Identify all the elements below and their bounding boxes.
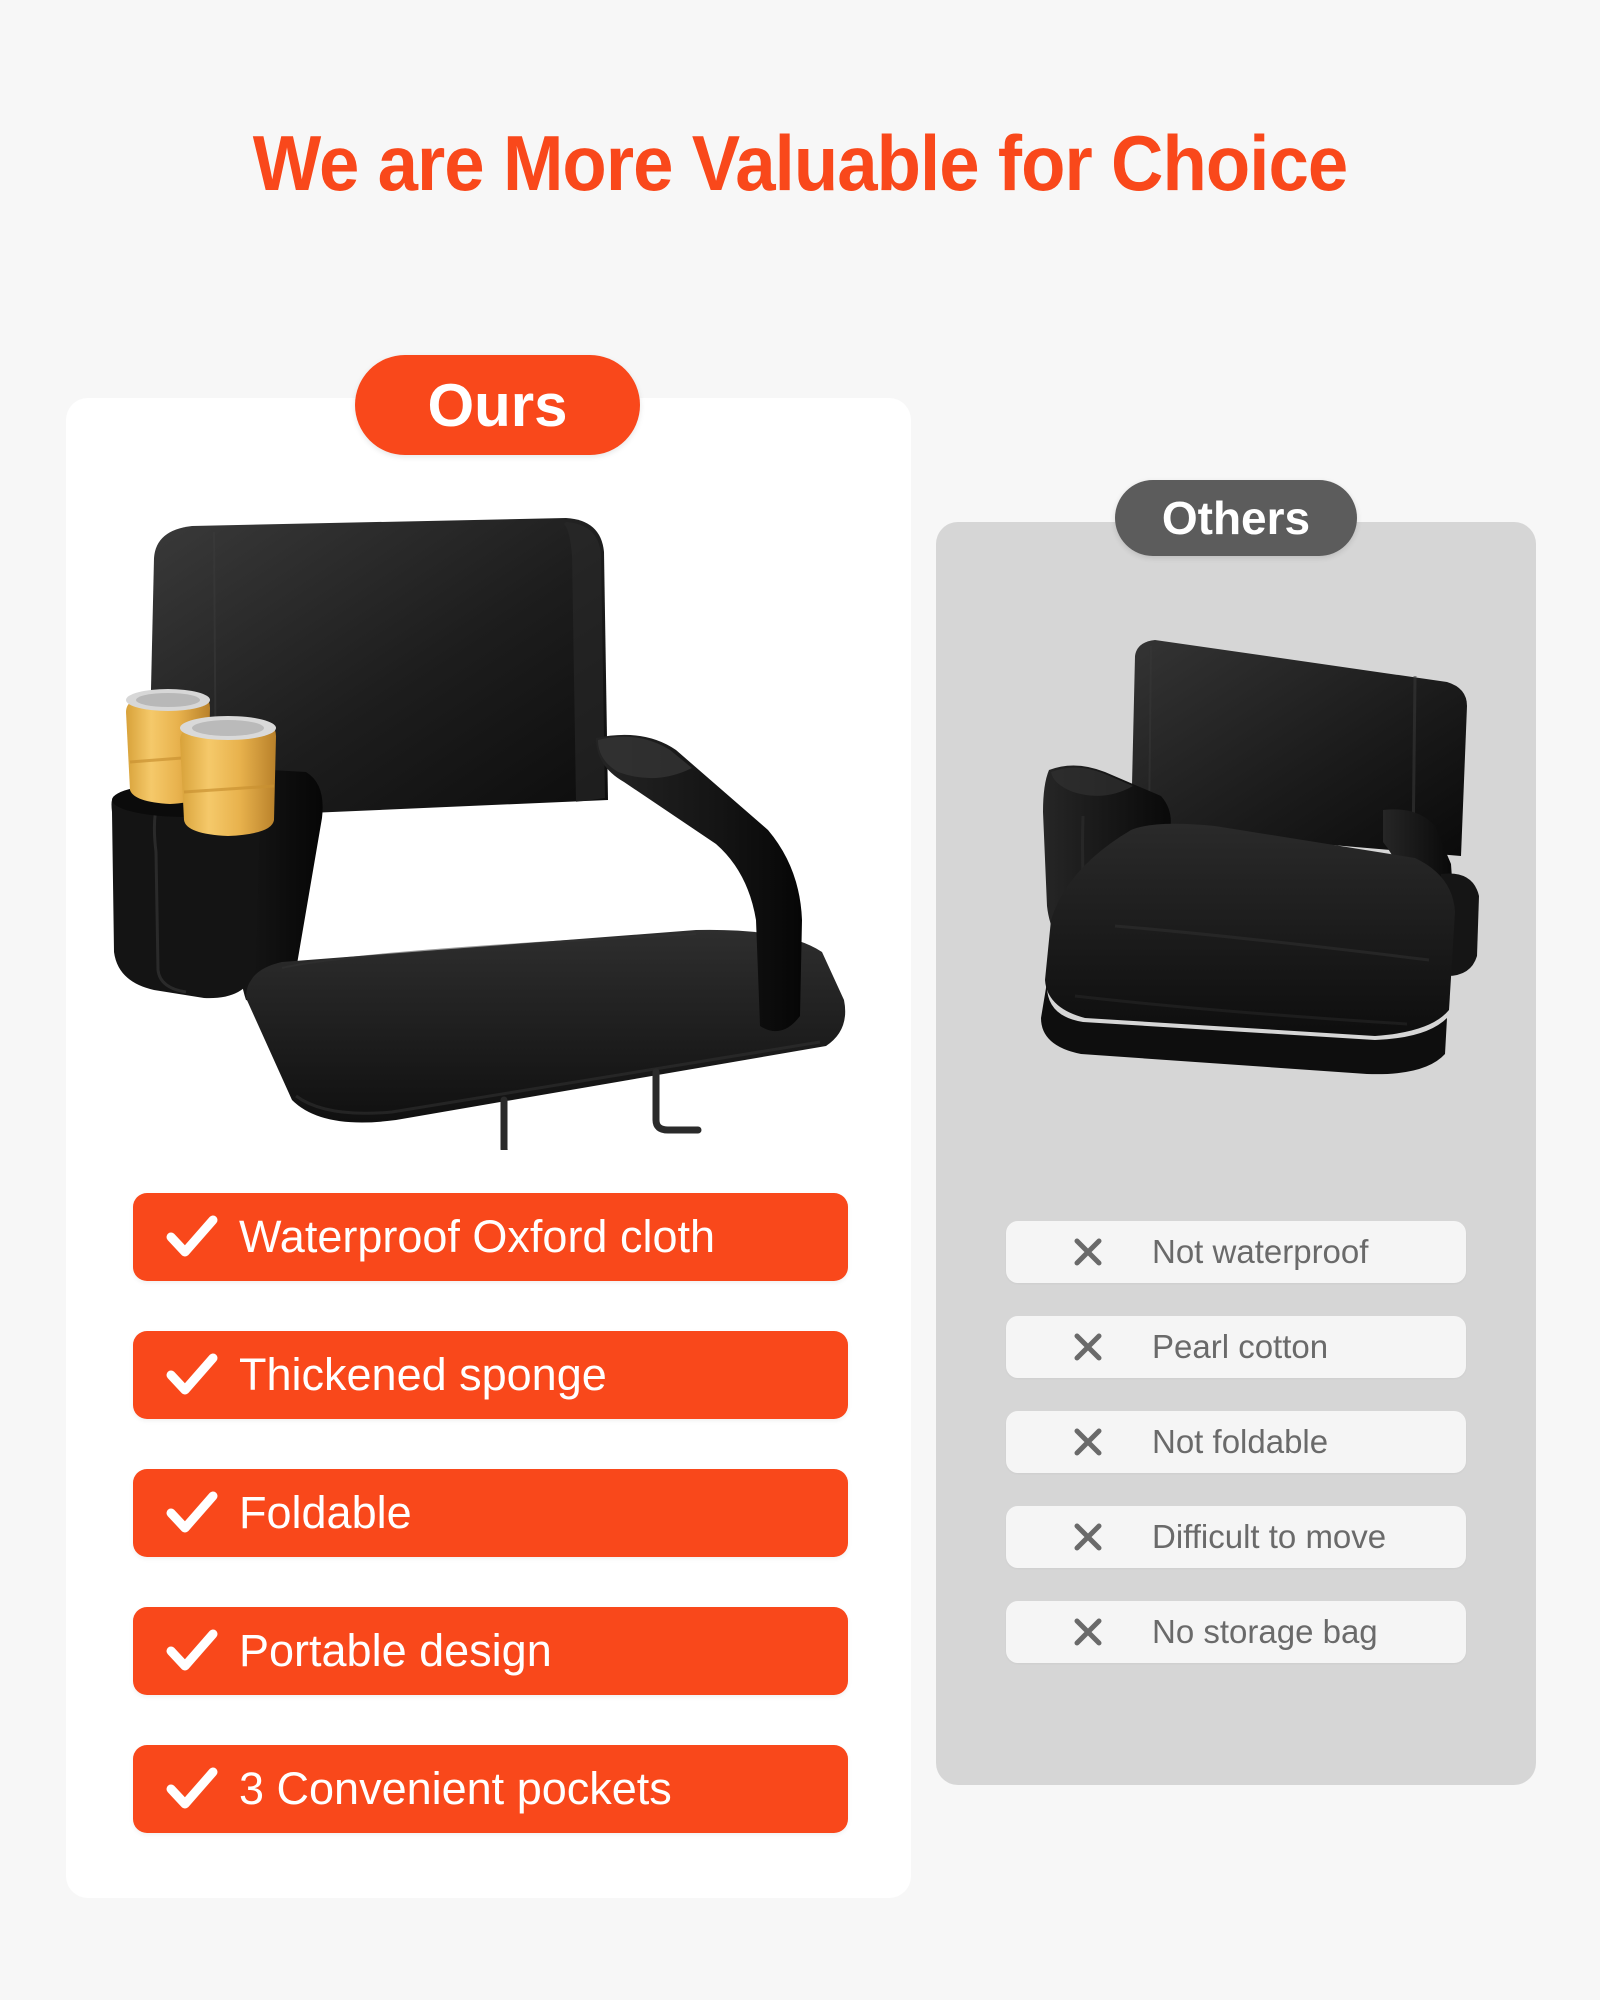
- others-feature-label: Not foldable: [1152, 1423, 1402, 1461]
- x-icon: [1070, 1614, 1106, 1650]
- ours-feature-item: Portable design: [133, 1607, 848, 1695]
- others-feature-label: No storage bag: [1152, 1613, 1402, 1651]
- check-icon: [163, 1346, 221, 1404]
- ours-feature-item: Foldable: [133, 1469, 848, 1557]
- ours-product-image: [96, 500, 886, 1150]
- others-feature-item: No storage bag: [1006, 1601, 1466, 1663]
- comparison-infographic: We are More Valuable for Choice: [0, 0, 1600, 2000]
- page-title: We are More Valuable for Choice: [56, 118, 1544, 209]
- x-icon: [1070, 1329, 1106, 1365]
- others-feature-list: Not waterproof Pearl cotton Not foldable: [1006, 1221, 1466, 1663]
- others-feature-label: Not waterproof: [1152, 1233, 1402, 1271]
- others-feature-item: Not foldable: [1006, 1411, 1466, 1473]
- check-icon: [163, 1484, 221, 1542]
- others-feature-label: Pearl cotton: [1152, 1328, 1402, 1366]
- others-product-image: [955, 620, 1495, 1110]
- ours-feature-label: Waterproof Oxford cloth: [239, 1211, 715, 1263]
- ours-feature-label: Thickened sponge: [239, 1349, 607, 1401]
- x-icon: [1070, 1424, 1106, 1460]
- others-feature-item: Pearl cotton: [1006, 1316, 1466, 1378]
- x-icon: [1070, 1234, 1106, 1270]
- check-icon: [163, 1760, 221, 1818]
- ours-feature-list: Waterproof Oxford cloth Thickened sponge…: [133, 1193, 848, 1833]
- others-badge: Others: [1115, 480, 1357, 556]
- ours-feature-item: Waterproof Oxford cloth: [133, 1193, 848, 1281]
- check-icon: [163, 1622, 221, 1680]
- ours-feature-label: Foldable: [239, 1487, 412, 1539]
- ours-badge: Ours: [355, 355, 640, 455]
- check-icon: [163, 1208, 221, 1266]
- others-feature-item: Difficult to move: [1006, 1506, 1466, 1568]
- x-icon: [1070, 1519, 1106, 1555]
- ours-feature-label: Portable design: [239, 1625, 552, 1677]
- others-feature-item: Not waterproof: [1006, 1221, 1466, 1283]
- ours-feature-label: 3 Convenient pockets: [239, 1763, 672, 1815]
- others-feature-label: Difficult to move: [1152, 1518, 1402, 1556]
- ours-feature-item: 3 Convenient pockets: [133, 1745, 848, 1833]
- ours-feature-item: Thickened sponge: [133, 1331, 848, 1419]
